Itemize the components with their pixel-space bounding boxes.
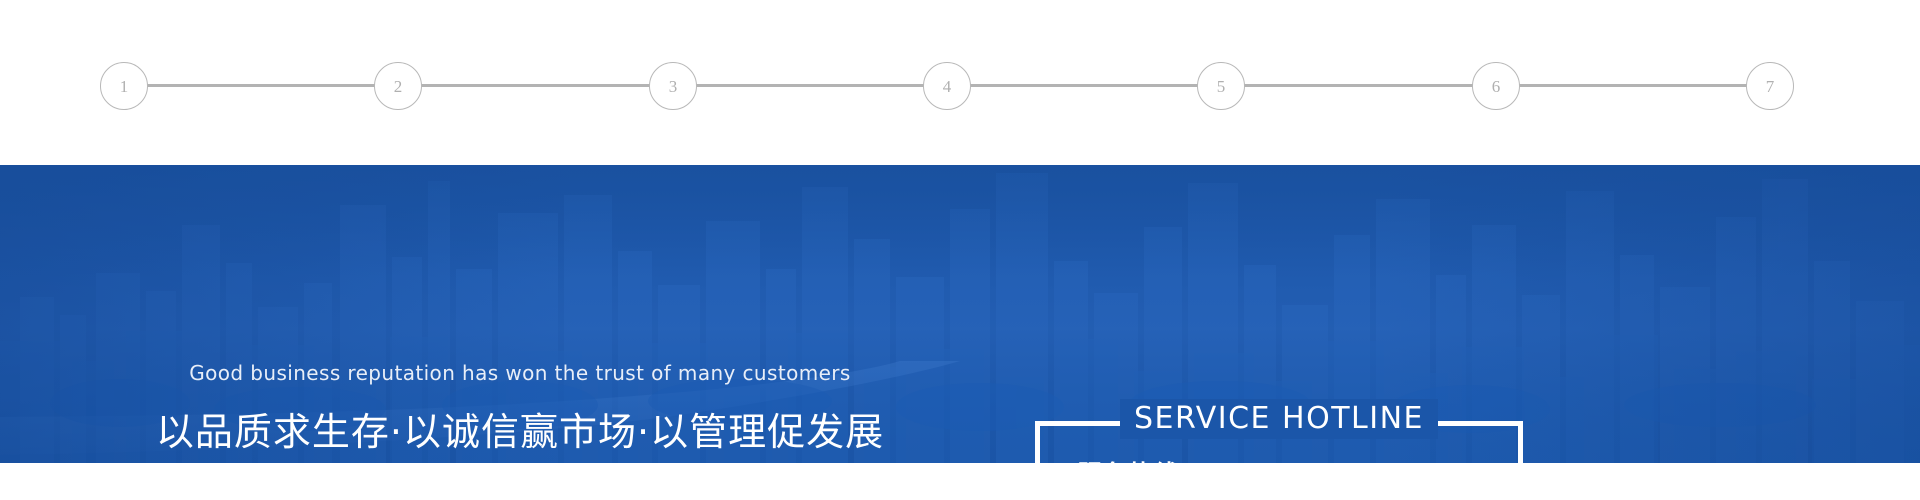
blue-banner: Good business reputation has won the tru…: [0, 165, 1920, 463]
step-circle-3[interactable]: 3: [649, 62, 697, 110]
step-label-1: 1: [120, 78, 129, 95]
step-label-7: 7: [1766, 78, 1775, 95]
slogan-block: Good business reputation has won the tru…: [0, 361, 1040, 463]
step-circle-2[interactable]: 2: [374, 62, 422, 110]
step-circle-1[interactable]: 1: [100, 62, 148, 110]
hotline-title-wrap: SERVICE HOTLINE: [1035, 399, 1523, 439]
step-indicator-track-wrap: 1 2 3 4 5 6 7: [124, 62, 1770, 110]
step-circle-7[interactable]: 7: [1746, 62, 1794, 110]
slogan-headline: 以品质求生存·以诚信赢市场·以管理促发展: [0, 401, 1040, 456]
step-label-4: 4: [943, 78, 952, 95]
service-hotline-box: SERVICE HOTLINE 服务热线： 183-2660-0068 0551…: [1035, 421, 1523, 463]
hotline-number-rows: 服务热线： 183-2660-0068 0551-63749777: [1035, 455, 1523, 463]
hotline-label: 服务热线：: [1077, 455, 1205, 463]
step-circle-5[interactable]: 5: [1197, 62, 1245, 110]
hotline-row-primary: 服务热线： 183-2660-0068: [1077, 455, 1523, 463]
step-label-5: 5: [1217, 78, 1226, 95]
step-label-6: 6: [1492, 78, 1501, 95]
step-indicator-bar: 1 2 3 4 5 6 7: [0, 0, 1920, 165]
page-root: 1 2 3 4 5 6 7: [0, 0, 1920, 500]
step-label-3: 3: [669, 78, 678, 95]
step-label-2: 2: [394, 78, 403, 95]
hotline-number-primary[interactable]: 183-2660-0068: [1205, 459, 1437, 463]
slogan-english-line: Good business reputation has won the tru…: [0, 361, 1040, 385]
hotline-title-text: SERVICE HOTLINE: [1120, 399, 1438, 439]
step-circle-6[interactable]: 6: [1472, 62, 1520, 110]
step-circle-4[interactable]: 4: [923, 62, 971, 110]
